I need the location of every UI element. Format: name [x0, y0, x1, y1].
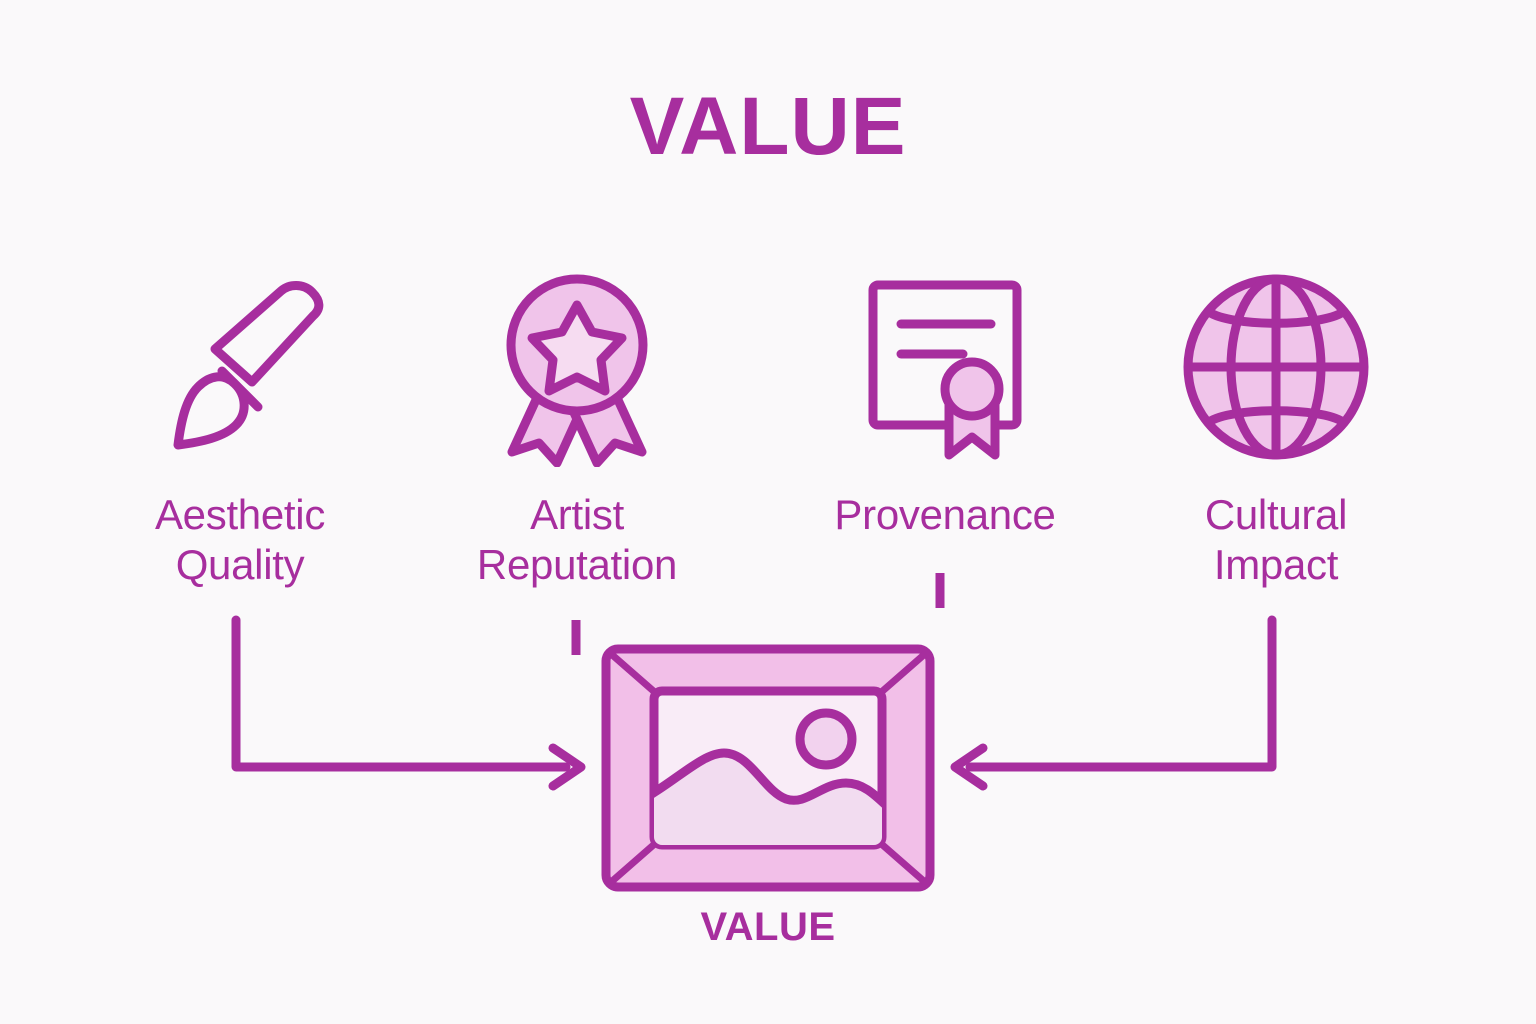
node-label-line2: Reputation: [427, 540, 727, 590]
connector-aesthetic-quality: [236, 620, 581, 786]
framed-picture-icon[interactable]: [600, 643, 936, 893]
certificate-icon: [795, 262, 1095, 472]
connector-cultural-impact: [955, 620, 1272, 786]
node-label-line1: Artist: [427, 490, 727, 540]
node-label-line2: Impact: [1126, 540, 1426, 590]
node-artist-reputation[interactable]: Artist Reputation: [427, 262, 727, 589]
node-label-line2: Quality: [90, 540, 390, 590]
diagram-canvas: VALUE: [0, 0, 1536, 1024]
award-ribbon-icon: [427, 262, 727, 472]
node-label-line1: Provenance: [795, 490, 1095, 540]
node-label-line1: Aesthetic: [90, 490, 390, 540]
node-label-aesthetic-quality: Aesthetic Quality: [90, 490, 390, 589]
node-label-line1: Cultural: [1126, 490, 1426, 540]
globe-icon: [1126, 262, 1426, 472]
node-label-provenance: Provenance: [795, 490, 1095, 540]
node-aesthetic-quality[interactable]: Aesthetic Quality: [90, 262, 390, 589]
node-label-artist-reputation: Artist Reputation: [427, 490, 727, 589]
node-label-cultural-impact: Cultural Impact: [1126, 490, 1426, 589]
page-title: VALUE: [0, 86, 1536, 168]
node-cultural-impact[interactable]: Cultural Impact: [1126, 262, 1426, 589]
center-label: VALUE: [600, 905, 936, 950]
node-provenance[interactable]: Provenance: [795, 262, 1095, 540]
paintbrush-icon: [90, 262, 390, 472]
